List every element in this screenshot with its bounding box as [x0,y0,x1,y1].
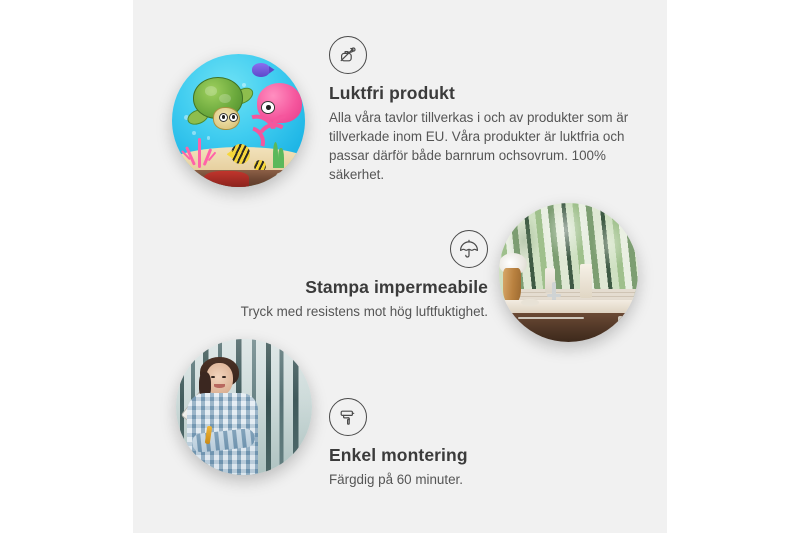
faucet-icon [552,282,556,301]
screenshot-root: Luktfri produkt Alla våra tavlor tillver… [0,0,800,533]
bottom-white-shape [276,172,297,187]
underwater-cartoon-image [172,54,305,187]
countertop [499,300,638,313]
feature-description: Färgdig på 60 minuter. [329,470,629,489]
feature-odourless: Luktfri produkt Alla våra tavlor tillver… [329,36,629,184]
soap-dish-icon [521,299,539,306]
vase-icon [503,268,521,304]
turtle-eye [219,113,228,122]
umbrella-icon [450,230,488,268]
smile [214,384,225,388]
octopus-eye [261,101,276,114]
feature-title: Luktfri produkt [329,83,629,104]
bathroom-wallpaper-image [499,203,638,342]
feature-panel: Luktfri produkt Alla våra tavlor tillver… [133,0,667,533]
no-fragrance-icon [329,36,367,74]
feature-title: Stampa impermeabile [188,277,488,298]
coral-icon [184,134,216,169]
feature-description: Tryck med resistens mot hög luftfuktighe… [188,302,488,321]
turtle-eye [229,113,238,122]
feature-easy-mounting: Enkel montering Färgdig på 60 minuter. [329,398,629,489]
vanity-cabinet [510,313,638,342]
paint-roller-icon [329,398,367,436]
sea-scene [172,54,305,187]
blue-fish-icon [252,63,271,76]
bottle-icon [580,264,593,297]
bottom-red-shape [204,171,249,187]
feature-description: Alla våra tavlor tillverkas i och av pro… [329,108,629,184]
feature-waterproof: Stampa impermeabile Tryck med resistens … [188,230,488,321]
feature-title: Enkel montering [329,445,629,466]
woman-painter-forest-image [176,339,312,475]
seaweed-icon [278,148,283,168]
